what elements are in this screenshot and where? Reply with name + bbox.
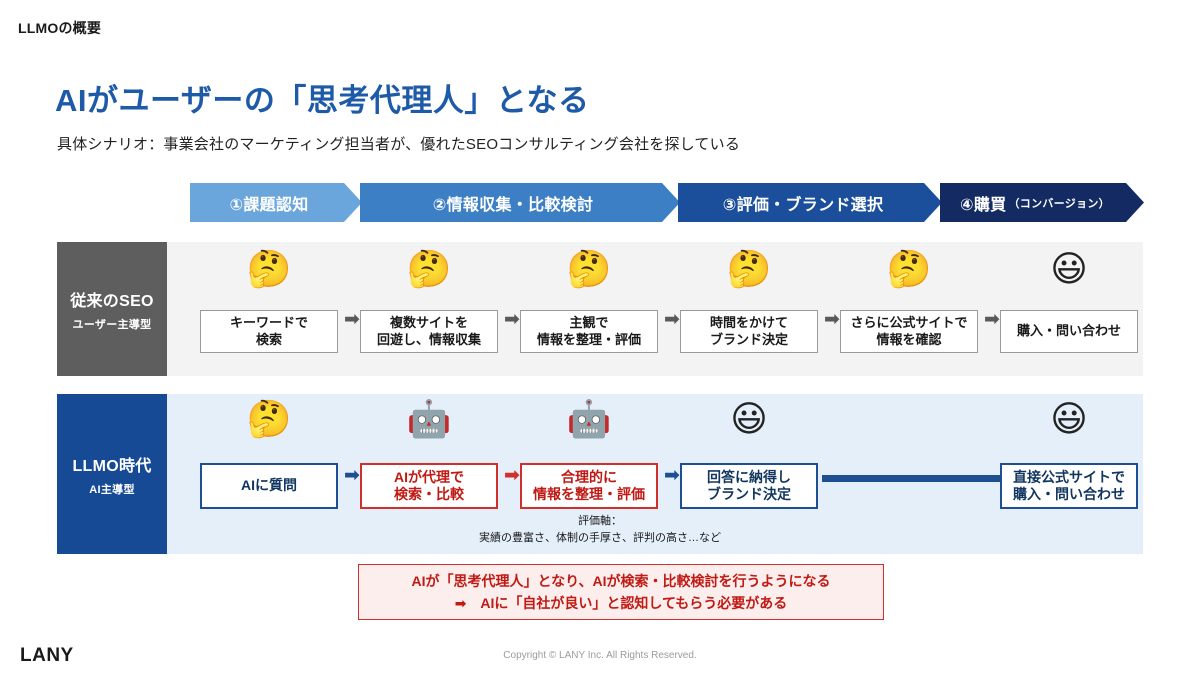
- evaluation-axis-note: 評価軸： 実績の豊富さ、体制の手厚さ、評判の高さ…など: [57, 513, 1143, 546]
- thinking-face-icon: 🤔: [200, 252, 338, 288]
- step-text-line1: 時間をかけて: [710, 315, 788, 331]
- step-text-line1: さらに公式サイトで: [850, 315, 967, 331]
- callout-line-1: AIが「思考代理人」となり、AIが検索・比較検討を行うようになる: [411, 570, 830, 592]
- step-text-line2: 情報を整理・評価: [533, 486, 645, 504]
- stage-chevron-bar: ①課題認知 ②情報収集・比較検討 ③評価・ブランド選択 ④購買 （コンバージョン…: [0, 183, 1200, 223]
- step-text-line1: 直接公式サイトで: [1013, 469, 1125, 487]
- connector-arrow-r1-1: ➡: [344, 310, 360, 329]
- step-box-r1-2[interactable]: 複数サイトを 回遊し、情報収集: [360, 310, 498, 353]
- stage-note-4: （コンバージョン）: [1008, 195, 1109, 211]
- conclusion-callout: AIが「思考代理人」となり、AIが検索・比較検討を行うようになる ➡ AIに「自…: [358, 564, 884, 620]
- row-label-main: 従来のSEO: [70, 287, 154, 311]
- page-subtitle: 具体シナリオ：事業会社のマーケティング担当者が、優れたSEOコンサルティング会社…: [57, 133, 740, 154]
- step-text-line2: ブランド決定: [710, 332, 788, 348]
- row-label-sub: AI主導型: [89, 481, 135, 497]
- step-text-line1: AIに質問: [241, 477, 297, 495]
- thinking-face-icon: 🤔: [520, 252, 658, 288]
- grinning-face-icon: 😃: [1000, 252, 1138, 288]
- row-label-sub: ユーザー主導型: [73, 316, 152, 332]
- copyright-text: Copyright © LANY Inc. All Rights Reserve…: [0, 650, 1200, 661]
- stage-label-3: ③評価・ブランド選択: [723, 191, 884, 215]
- step-text-line2: 回遊し、情報収集: [377, 332, 481, 348]
- step-text-line1: 合理的に: [533, 469, 645, 487]
- callout-line-2: ➡ AIに「自社が良い」と認知してもらう必要がある: [455, 592, 788, 614]
- slide-root: LLMOの概要 AIがユーザーの「思考代理人」となる 具体シナリオ：事業会社のマ…: [0, 0, 1200, 675]
- step-text-line2: 検索・比較: [394, 486, 464, 504]
- step-text-line1: 複数サイトを: [377, 315, 481, 331]
- step-box-r2-1[interactable]: AIに質問: [200, 463, 338, 509]
- connector-arrow-r2-1: ➡: [344, 466, 360, 485]
- connector-arrow-r1-3: ➡: [664, 310, 680, 329]
- connector-arrow-r2-2: ➡: [504, 466, 520, 485]
- step-text-line1: AIが代理で: [394, 469, 464, 487]
- step-box-r1-5[interactable]: さらに公式サイトで 情報を確認: [840, 310, 978, 353]
- evaluation-axis-values: 実績の豊富さ、体制の手厚さ、評判の高さ…など: [57, 530, 1143, 547]
- step-text-line1: 回答に納得し: [707, 469, 791, 487]
- step-box-r2-4[interactable]: 回答に納得し ブランド決定: [680, 463, 818, 509]
- thinking-face-icon: 🤔: [840, 252, 978, 288]
- row-label-main: LLMO時代: [72, 452, 151, 476]
- stage-chevron-3[interactable]: ③評価・ブランド選択: [678, 183, 942, 222]
- step-box-r1-6[interactable]: 購入・問い合わせ: [1000, 310, 1138, 353]
- stage-label-1: ①課題認知: [229, 191, 308, 215]
- page-title: AIがユーザーの「思考代理人」となる: [55, 75, 589, 120]
- stage-label-4: ④購買: [960, 191, 1006, 215]
- row-traditional-seo: 従来のSEO ユーザー主導型 🤔 キーワードで 検索 ➡ 🤔 複数サイトを 回遊…: [57, 242, 1143, 376]
- thinking-face-icon: 🤔: [200, 402, 338, 438]
- step-text-line1: 主観で: [537, 315, 641, 331]
- step-text-line2: 情報を確認: [850, 332, 967, 348]
- stage-chevron-1[interactable]: ①課題認知: [190, 183, 362, 222]
- step-text-line1: 購入・問い合わせ: [1017, 323, 1121, 339]
- step-box-r2-2[interactable]: AIが代理で 検索・比較: [360, 463, 498, 509]
- step-box-r2-3[interactable]: 合理的に 情報を整理・評価: [520, 463, 658, 509]
- row-label-traditional-seo: 従来のSEO ユーザー主導型: [57, 242, 167, 376]
- connector-arrow-r2-3: ➡: [664, 466, 680, 485]
- grinning-face-icon: 😃: [1000, 402, 1138, 438]
- grinning-face-icon: 😃: [680, 402, 818, 438]
- connector-arrow-r1-5: ➡: [984, 310, 1000, 329]
- step-text-line2: 購入・問い合わせ: [1013, 486, 1125, 504]
- stage-label-2: ②情報収集・比較検討: [433, 191, 594, 215]
- connector-arrow-r1-4: ➡: [824, 310, 840, 329]
- evaluation-axis-label: 評価軸：: [57, 513, 1143, 530]
- stage-chevron-4[interactable]: ④購買 （コンバージョン）: [940, 183, 1144, 222]
- step-text-line1: キーワードで: [230, 315, 308, 331]
- step-box-r1-1[interactable]: キーワードで 検索: [200, 310, 338, 353]
- step-box-r1-3[interactable]: 主観で 情報を整理・評価: [520, 310, 658, 353]
- step-box-r1-4[interactable]: 時間をかけて ブランド決定: [680, 310, 818, 353]
- thinking-face-icon: 🤔: [680, 252, 818, 288]
- step-text-line2: ブランド決定: [707, 486, 791, 504]
- slide-kicker: LLMOの概要: [18, 18, 101, 38]
- robot-face-icon: 🤖: [520, 402, 658, 438]
- stage-chevron-2[interactable]: ②情報収集・比較検討: [360, 183, 680, 222]
- long-connector-arrow-shaft: [822, 475, 1004, 482]
- step-text-line2: 情報を整理・評価: [537, 332, 641, 348]
- robot-face-icon: 🤖: [360, 402, 498, 438]
- step-box-r2-5[interactable]: 直接公式サイトで 購入・問い合わせ: [1000, 463, 1138, 509]
- thinking-face-icon: 🤔: [360, 252, 498, 288]
- connector-arrow-r1-2: ➡: [504, 310, 520, 329]
- step-text-line2: 検索: [230, 332, 308, 348]
